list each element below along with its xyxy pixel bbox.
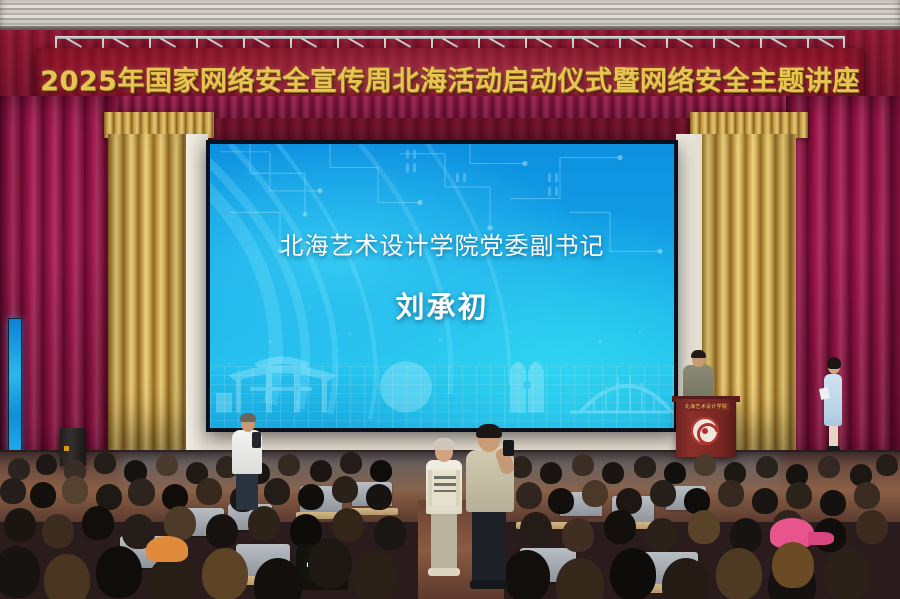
audience-head xyxy=(254,558,302,599)
audience-head xyxy=(278,454,300,476)
audience-head xyxy=(96,546,142,598)
photographer-phone xyxy=(503,440,514,456)
audience-head xyxy=(340,452,362,474)
pink-cap-brim xyxy=(808,532,834,545)
audience-head xyxy=(582,480,608,507)
audience-head xyxy=(824,548,870,599)
audience-head xyxy=(264,478,290,505)
audience-head xyxy=(662,558,710,599)
audience-head xyxy=(818,456,840,478)
audience-head xyxy=(42,514,74,548)
audience-head xyxy=(206,514,238,548)
audience-head xyxy=(4,508,36,542)
audience-head xyxy=(786,482,812,509)
host-legs xyxy=(829,424,838,448)
audience-head xyxy=(548,488,574,514)
speaker-hair xyxy=(691,350,706,358)
audience-head xyxy=(772,542,814,588)
audience-head xyxy=(202,548,248,599)
audience-head xyxy=(0,546,40,598)
audience-head xyxy=(308,538,352,588)
host-shoes xyxy=(827,446,840,451)
audience-head xyxy=(634,456,656,478)
audience-head xyxy=(148,556,196,599)
vest-back-text xyxy=(434,476,456,492)
audience-head xyxy=(94,452,116,474)
audience-head xyxy=(196,478,222,505)
staff-in-vest-legs xyxy=(431,510,457,572)
led-screen-surface: 北海艺术设计学院党委副书记 刘承初 xyxy=(210,144,674,428)
gold-curtain-left xyxy=(108,134,186,454)
banner-title: 2025年国家网络安全宣传周北海活动启动仪式暨网络安全主题讲座 xyxy=(40,59,860,98)
audience-head xyxy=(562,518,594,552)
audience-head xyxy=(556,558,604,599)
camera-device xyxy=(252,432,261,448)
audience-head xyxy=(164,506,196,540)
side-wall-led-strip xyxy=(8,318,22,458)
audience-head xyxy=(62,476,88,504)
audience-head xyxy=(8,458,30,480)
audience-head xyxy=(44,554,90,599)
podium-nameplate-text: 北海艺术设计学院 xyxy=(685,403,727,410)
audience-head xyxy=(650,480,676,507)
audience-head xyxy=(370,460,392,482)
camera-operator-hair xyxy=(240,413,256,422)
audience-head xyxy=(856,510,888,544)
camera-operator-legs xyxy=(236,470,258,510)
audience-head xyxy=(602,462,624,484)
audience-head xyxy=(332,476,358,503)
audience-head xyxy=(610,548,656,599)
audience-head xyxy=(694,454,716,476)
audience-head xyxy=(156,454,178,476)
perspective-grid xyxy=(210,366,674,428)
audience-head xyxy=(752,488,778,514)
staff-shoes xyxy=(428,568,460,576)
audience-head xyxy=(332,508,364,542)
audience-head xyxy=(248,506,280,540)
audience-head xyxy=(128,478,155,506)
audience-head xyxy=(366,484,392,510)
audience-head xyxy=(36,454,57,475)
audience-head xyxy=(646,518,678,552)
audience-head xyxy=(516,482,542,509)
audience-head xyxy=(688,510,720,544)
audience-head xyxy=(604,510,636,544)
photographer-shoes xyxy=(470,580,508,589)
audience-head xyxy=(310,460,332,482)
photographer-legs xyxy=(472,508,506,584)
audience-head xyxy=(520,512,552,546)
audience-head xyxy=(298,484,324,510)
audience-head xyxy=(504,550,550,599)
auditorium-scene: 2025年国家网络安全宣传周北海活动启动仪式暨网络安全主题讲座 xyxy=(0,0,900,599)
screen-speaker-name: 刘承初 xyxy=(210,284,674,326)
photographer-hair xyxy=(476,424,502,438)
audience-head xyxy=(876,454,898,476)
audience-head xyxy=(30,482,56,508)
audience-head xyxy=(718,480,744,507)
audience-head xyxy=(374,516,406,550)
audience-head xyxy=(756,456,778,478)
audience-head xyxy=(352,550,398,599)
audience-head xyxy=(854,482,880,509)
led-screen: 北海艺术设计学院党委副书记 刘承初 xyxy=(206,140,678,432)
orange-cap xyxy=(146,536,188,562)
host-hair xyxy=(827,357,841,369)
stage-curtain-right xyxy=(786,96,900,456)
staff-hair xyxy=(433,438,455,450)
audience-head xyxy=(0,478,26,504)
host-stage-right xyxy=(824,374,842,426)
audience-head xyxy=(820,490,846,516)
audience-head xyxy=(82,506,114,540)
screen-title-line: 北海艺术设计学院党委副书记 xyxy=(210,226,674,261)
podium-nameplate: 北海艺术设计学院 xyxy=(682,402,730,411)
wall-strip-left xyxy=(186,134,208,454)
audience-head xyxy=(716,548,762,599)
audience-head xyxy=(730,518,762,552)
audience-head xyxy=(540,462,562,484)
spiral-emblem-icon xyxy=(691,417,719,445)
audience-head xyxy=(572,454,594,476)
